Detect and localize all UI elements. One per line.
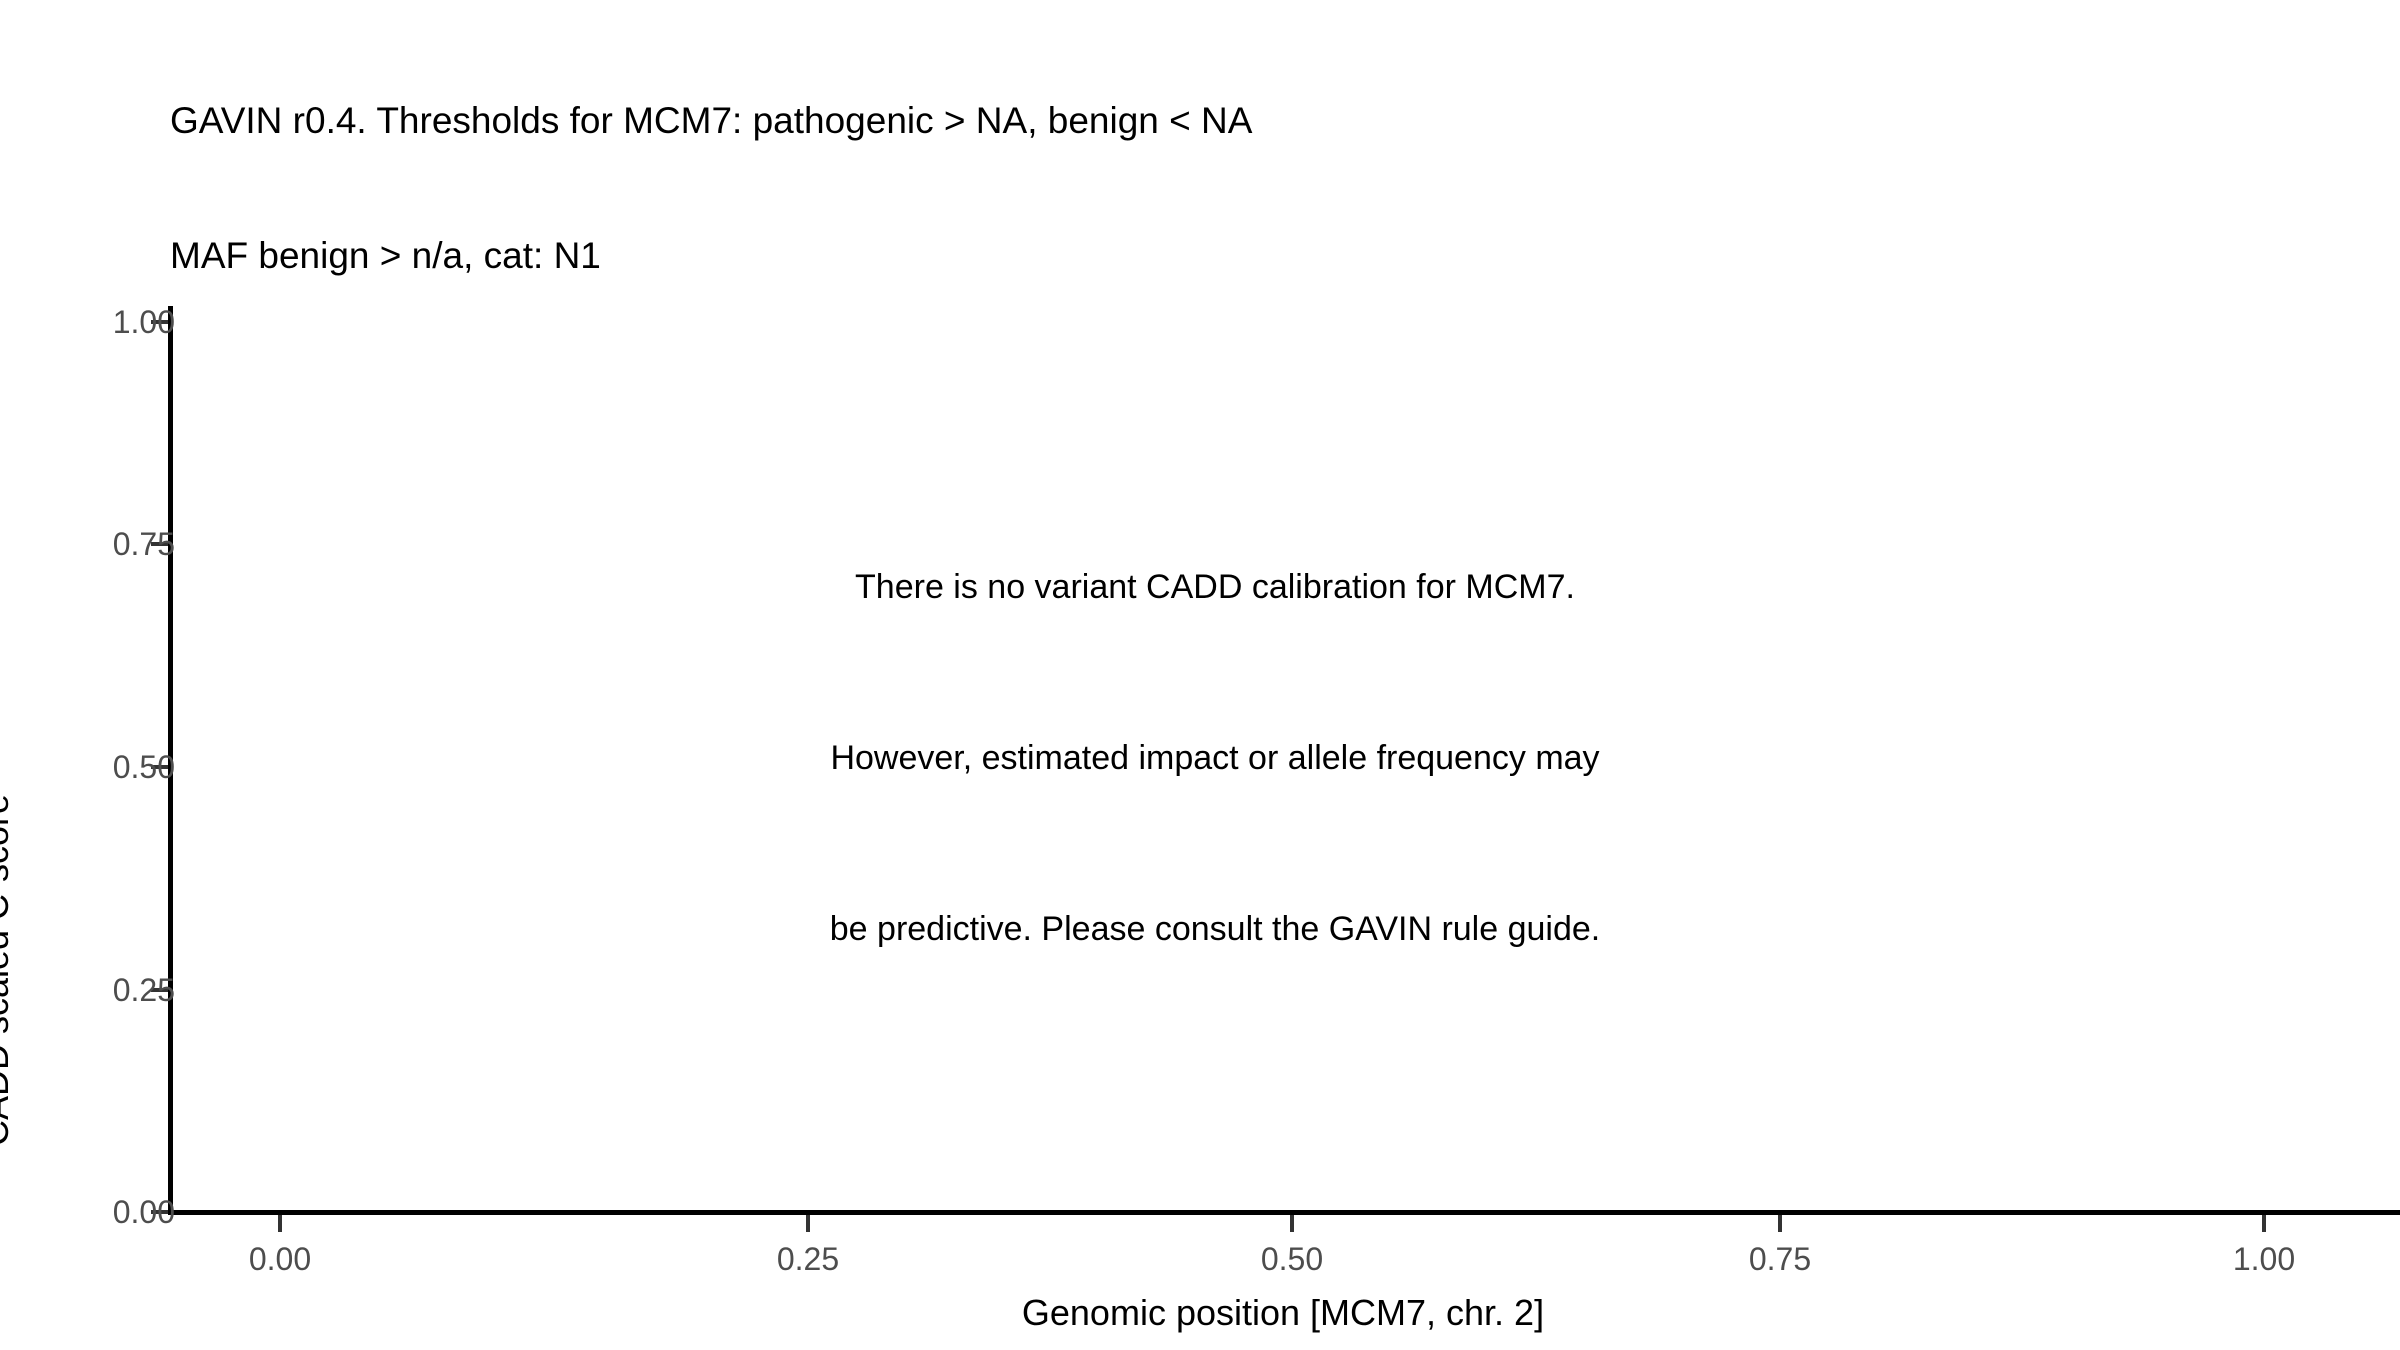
y-tick-label-1.00: 1.00 — [35, 306, 175, 338]
x-tick-mark-0.75 — [1778, 1215, 1782, 1232]
y-axis-title: CADD scaled C-score — [0, 620, 14, 1320]
y-tick-label-0.00: 0.00 — [35, 1196, 175, 1228]
x-tick-mark-0.25 — [806, 1215, 810, 1232]
x-tick-label-0.75: 0.75 — [1680, 1243, 1880, 1275]
x-tick-label-0.00: 0.00 — [180, 1243, 380, 1275]
x-tick-label-0.25: 0.25 — [708, 1243, 908, 1275]
annotation-line-2: However, estimated impact or allele freq… — [585, 730, 1845, 787]
annotation-line-3: be predictive. Please consult the GAVIN … — [585, 901, 1845, 958]
chart-title-line-2: MAF benign > n/a, cat: N1 — [170, 233, 2270, 278]
y-tick-label-0.50: 0.50 — [35, 751, 175, 783]
chart-title-line-1: GAVIN r0.4. Thresholds for MCM7: pathoge… — [170, 98, 2270, 143]
y-tick-label-0.75: 0.75 — [35, 528, 175, 560]
no-calibration-annotation: There is no variant CADD calibration for… — [585, 445, 1845, 1072]
x-axis-line — [168, 1210, 2400, 1215]
chart-figure: GAVIN r0.4. Thresholds for MCM7: pathoge… — [0, 0, 2400, 1350]
x-tick-mark-0.50 — [1290, 1215, 1294, 1232]
x-tick-mark-0.00 — [278, 1215, 282, 1232]
x-tick-label-0.50: 0.50 — [1192, 1243, 1392, 1275]
x-axis-title: Genomic position [MCM7, chr. 2] — [170, 1295, 2396, 1331]
x-tick-label-1.00: 1.00 — [2164, 1243, 2364, 1275]
y-tick-label-0.25: 0.25 — [35, 974, 175, 1006]
x-tick-mark-1.00 — [2262, 1215, 2266, 1232]
annotation-line-1: There is no variant CADD calibration for… — [585, 559, 1845, 616]
